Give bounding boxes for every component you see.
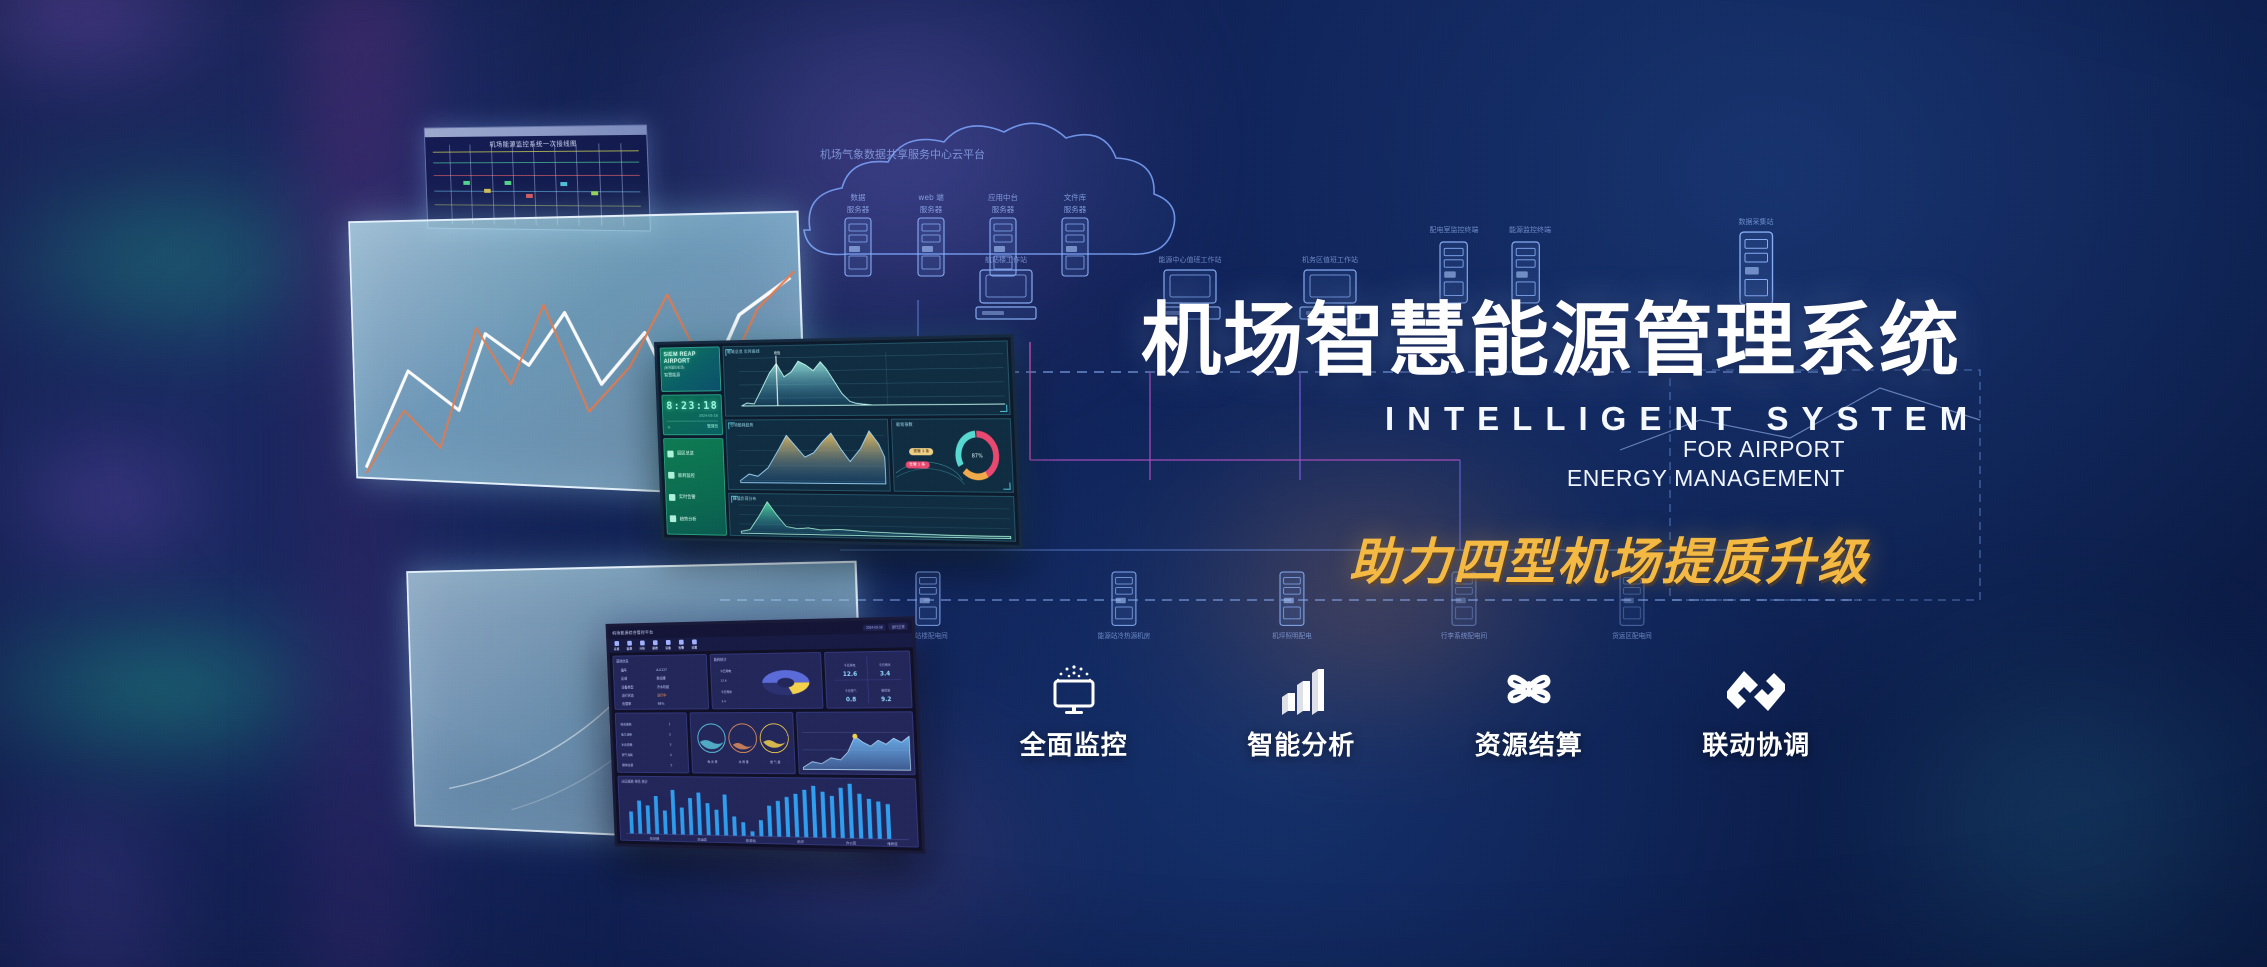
feature-item-monitor[interactable]: 全面监控 [960, 665, 1188, 785]
subtitle-en-secondary: FOR AIRPORT ENERGY MANAGEMENT [1567, 435, 1845, 494]
subtitle-en-primary: INTELLIGENT SYSTEM [1385, 400, 1980, 438]
hero-banner: 机场气象数据共享服务中心云平台 数据服务器 web 端服务器 应用中台服务器 文… [0, 0, 2267, 967]
subtitle-line-for-airport: FOR AIRPORT [1567, 435, 1845, 464]
slogan: 助力四型机场提质升级 [1349, 522, 1869, 594]
background-grain [0, 0, 2267, 967]
monitor-icon [1045, 665, 1103, 715]
feature-item-settlement[interactable]: 资源结算 [1415, 665, 1643, 785]
feature-item-analysis[interactable]: 智能分析 [1188, 665, 1416, 785]
feature-item-coordination[interactable]: 联动协调 [1643, 665, 1871, 785]
feature-label-settlement: 资源结算 [1475, 725, 1583, 762]
clover-icon [1503, 665, 1555, 715]
bar-chart-icon [1276, 665, 1326, 715]
page-title: 机场智慧能源管理系统 [1141, 276, 1961, 392]
feature-label-monitor: 全面监控 [1020, 725, 1128, 762]
link-icon [1727, 665, 1785, 715]
subtitle-line-energy-management: ENERGY MANAGEMENT [1567, 464, 1845, 493]
feature-label-analysis: 智能分析 [1247, 725, 1355, 762]
feature-label-coordination: 联动协调 [1702, 725, 1810, 762]
feature-list: 全面监控 智能分析 [960, 665, 1870, 785]
